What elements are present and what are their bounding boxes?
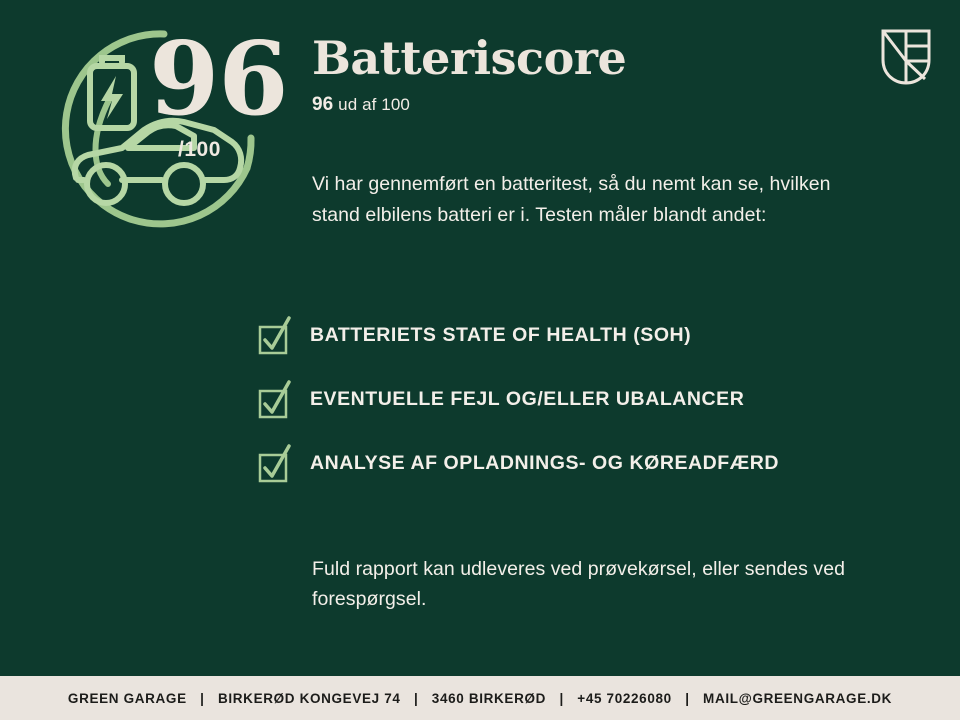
checklist-item-label: BATTERIETS STATE OF HEALTH (SOH)	[310, 324, 691, 347]
score-value: 96	[149, 28, 288, 129]
checklist-item: EVENTUELLE FEJL OG/ELLER UBALANCER	[258, 367, 878, 431]
page-title: Batteriscore	[312, 34, 872, 82]
checked-checkbox-icon	[258, 443, 292, 483]
outro-paragraph: Fuld rapport kan udleveres ved prøvekørs…	[312, 554, 852, 614]
batteriscore-badge: 96 /100	[44, 18, 294, 243]
subtitle-rest: ud af 100	[338, 95, 410, 114]
checklist-item: ANALYSE AF OPLADNINGS- OG KØREADFÆRD	[258, 431, 878, 495]
subtitle-score: 96	[312, 94, 333, 115]
battery-bolt-icon	[90, 58, 134, 128]
checklist-item: BATTERIETS STATE OF HEALTH (SOH)	[258, 303, 878, 367]
footer-company: GREEN GARAGE	[68, 691, 187, 706]
footer-phone[interactable]: +45 70226080	[577, 691, 672, 706]
green-garage-shield-logo	[880, 28, 932, 86]
footer-street: BIRKERØD KONGEVEJ 74	[218, 691, 401, 706]
checklist-item-label: ANALYSE AF OPLADNINGS- OG KØREADFÆRD	[310, 452, 779, 475]
footer-email[interactable]: MAIL@GREENGARAGE.DK	[703, 691, 892, 706]
checklist-item-label: EVENTUELLE FEJL OG/ELLER UBALANCER	[310, 388, 744, 411]
footer-separator: |	[405, 691, 427, 706]
footer-separator: |	[191, 691, 213, 706]
footer-separator: |	[676, 691, 698, 706]
score-denominator: /100	[178, 138, 221, 162]
checklist: BATTERIETS STATE OF HEALTH (SOH) EVENTUE…	[258, 303, 878, 495]
content-column: Batteriscore 96 ud af 100 Vi har gennemf…	[312, 34, 872, 249]
footer-separator: |	[550, 691, 572, 706]
score-subtitle: 96 ud af 100	[312, 94, 872, 116]
batteriscore-infographic: 96 /100 Batteriscore 96 ud af 100 Vi har…	[0, 0, 960, 720]
footer-bar: GREEN GARAGE | BIRKERØD KONGEVEJ 74 | 34…	[0, 676, 960, 720]
footer-contact-line: GREEN GARAGE | BIRKERØD KONGEVEJ 74 | 34…	[68, 691, 892, 706]
footer-city: 3460 BIRKERØD	[432, 691, 546, 706]
checked-checkbox-icon	[258, 315, 292, 355]
checked-checkbox-icon	[258, 379, 292, 419]
intro-paragraph: Vi har gennemført en batteritest, så du …	[312, 169, 832, 229]
